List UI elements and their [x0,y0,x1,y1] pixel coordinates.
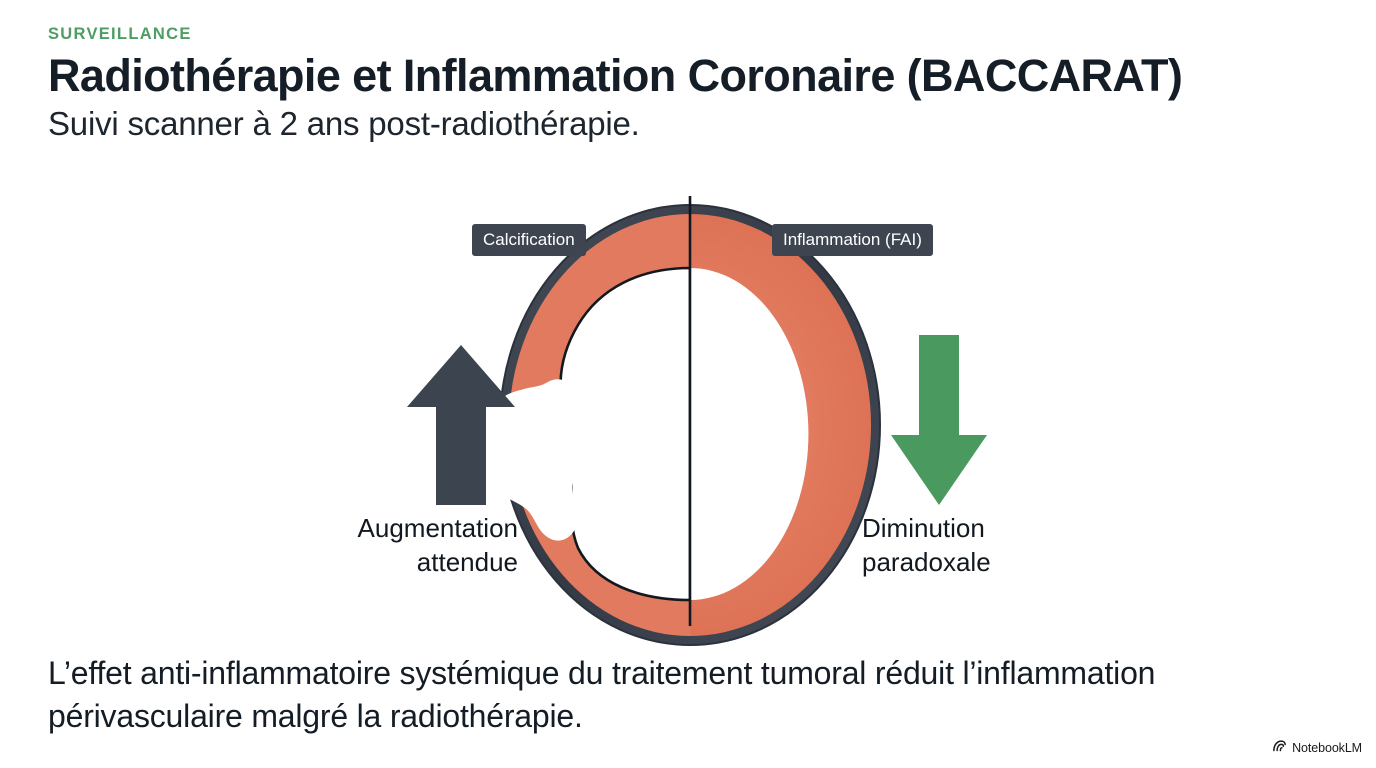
caption-left-line2: attendue [358,546,518,580]
slide-root: SURVEILLANCE Radiothérapie et Inflammati… [0,0,1376,768]
notebooklm-label: NotebookLM [1292,742,1362,755]
page-title: Radiothérapie et Inflammation Coronaire … [48,52,1338,100]
decrease-arrow-down [891,335,987,505]
notebooklm-arc-icon [1272,738,1287,758]
caption-left-line1: Augmentation [358,512,518,546]
caption-right: Diminution paradoxale [862,512,991,580]
badge-calcification: Calcification [472,224,586,256]
slide-header: SURVEILLANCE Radiothérapie et Inflammati… [48,26,1338,144]
caption-right-line2: paradoxale [862,546,991,580]
caption-right-line1: Diminution [862,512,991,546]
eyebrow-label: SURVEILLANCE [48,26,1338,43]
page-subtitle: Suivi scanner à 2 ans post-radiothérapie… [48,105,1338,144]
caption-left: Augmentation attendue [358,512,518,580]
takeaway-text: L’effet anti-inflammatoire systémique du… [48,652,1248,737]
notebooklm-brand: NotebookLM [1272,738,1362,758]
badge-inflammation-fai: Inflammation (FAI) [772,224,933,256]
